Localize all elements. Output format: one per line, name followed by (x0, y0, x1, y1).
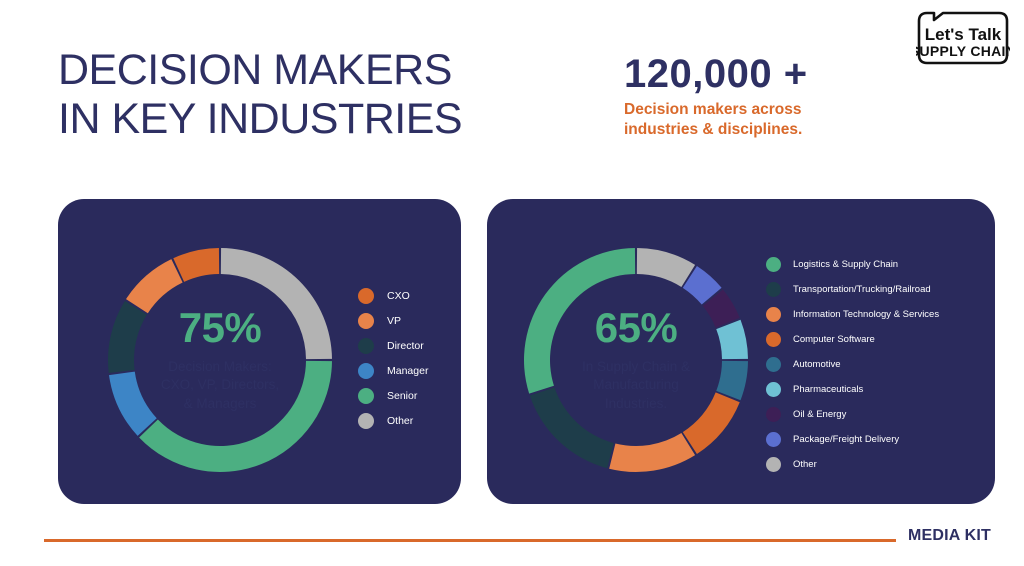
donut-slice (716, 361, 748, 400)
legend-swatch-icon (766, 307, 781, 322)
donut-slice (716, 320, 748, 359)
donut-slice (530, 387, 614, 468)
footer-label: MEDIA KIT (908, 527, 991, 545)
legend-swatch-icon (358, 388, 374, 404)
brand-logo: Let's Talk SUPPLY CHAIN (916, 11, 1010, 65)
legend-label: Senior (387, 390, 417, 402)
legend-item-industry[interactable]: Automotive (766, 352, 939, 377)
legend-roles: CXOVPDirectorManagerSeniorOther (358, 283, 428, 433)
logo-line2: SUPPLY CHAIN (916, 43, 1010, 59)
legend-item-industry[interactable]: Transportation/Trucking/Railroad (766, 277, 939, 302)
slide-canvas: DECISION MAKERS IN KEY INDUSTRIES 120,00… (0, 0, 1024, 566)
donut-slice (609, 433, 695, 472)
legend-swatch-icon (358, 363, 374, 379)
donut-svg-industries (522, 246, 750, 474)
legend-label: Package/Freight Delivery (793, 434, 899, 445)
legend-swatch-icon (766, 432, 781, 447)
stat-subtitle: Decision makers across industries & disc… (624, 100, 808, 141)
legend-item-industry[interactable]: Computer Software (766, 327, 939, 352)
footer-divider (44, 539, 896, 542)
legend-swatch-icon (358, 288, 374, 304)
legend-item-industry[interactable]: Other (766, 452, 939, 477)
donut-slice (683, 392, 740, 454)
legend-swatch-icon (766, 407, 781, 422)
legend-label: CXO (387, 290, 410, 302)
legend-label: Manager (387, 365, 428, 377)
legend-item-industry[interactable]: Pharmaceuticals (766, 377, 939, 402)
legend-label: Logistics & Supply Chain (793, 259, 898, 270)
legend-item-role[interactable]: CXO (358, 283, 428, 308)
legend-label: Oil & Energy (793, 409, 846, 420)
legend-swatch-icon (766, 332, 781, 347)
legend-industries: Logistics & Supply ChainTransportation/T… (766, 252, 939, 477)
legend-label: Automotive (793, 359, 841, 370)
legend-item-industry[interactable]: Information Technology & Services (766, 302, 939, 327)
legend-swatch-icon (766, 257, 781, 272)
legend-item-role[interactable]: VP (358, 308, 428, 333)
legend-swatch-icon (766, 357, 781, 372)
legend-label: Computer Software (793, 334, 875, 345)
legend-item-role[interactable]: Director (358, 333, 428, 358)
legend-item-role[interactable]: Other (358, 408, 428, 433)
legend-swatch-icon (766, 382, 781, 397)
donut-slice (139, 361, 332, 472)
legend-item-industry[interactable]: Logistics & Supply Chain (766, 252, 939, 277)
stat-number: 120,000 + (624, 52, 808, 96)
headline-stat: 120,000 + Decision makers across industr… (624, 52, 808, 141)
legend-swatch-icon (766, 282, 781, 297)
donut-slices-industries (524, 248, 748, 472)
donut-slice (173, 248, 219, 282)
donut-slice (126, 259, 183, 313)
legend-item-industry[interactable]: Oil & Energy (766, 402, 939, 427)
donut-chart-industries: 65% In Supply Chain & Manufacturing Indu… (522, 246, 750, 474)
donut-chart-roles: 75% Decision Makers: CXO, VP, Directors,… (106, 246, 334, 474)
donut-slice (109, 372, 157, 436)
donut-slice (637, 248, 695, 287)
page-title: DECISION MAKERS IN KEY INDUSTRIES (58, 46, 462, 144)
legend-label: Other (793, 459, 817, 470)
legend-label: Other (387, 415, 413, 427)
legend-label: Information Technology & Services (793, 309, 939, 320)
speech-bubble-icon: Let's Talk SUPPLY CHAIN (916, 11, 1010, 65)
donut-slice (108, 301, 147, 373)
donut-slices-roles (108, 248, 332, 472)
legend-swatch-icon (358, 313, 374, 329)
legend-item-industry[interactable]: Package/Freight Delivery (766, 427, 939, 452)
legend-label: Pharmaceuticals (793, 384, 863, 395)
legend-item-role[interactable]: Manager (358, 358, 428, 383)
legend-label: Director (387, 340, 424, 352)
legend-swatch-icon (358, 413, 374, 429)
donut-slice (524, 248, 635, 394)
legend-swatch-icon (358, 338, 374, 354)
legend-label: VP (387, 315, 401, 327)
donut-slice (221, 248, 332, 359)
logo-line1: Let's Talk (925, 25, 1002, 44)
legend-item-role[interactable]: Senior (358, 383, 428, 408)
donut-svg-roles (106, 246, 334, 474)
legend-label: Transportation/Trucking/Railroad (793, 284, 931, 295)
legend-swatch-icon (766, 457, 781, 472)
